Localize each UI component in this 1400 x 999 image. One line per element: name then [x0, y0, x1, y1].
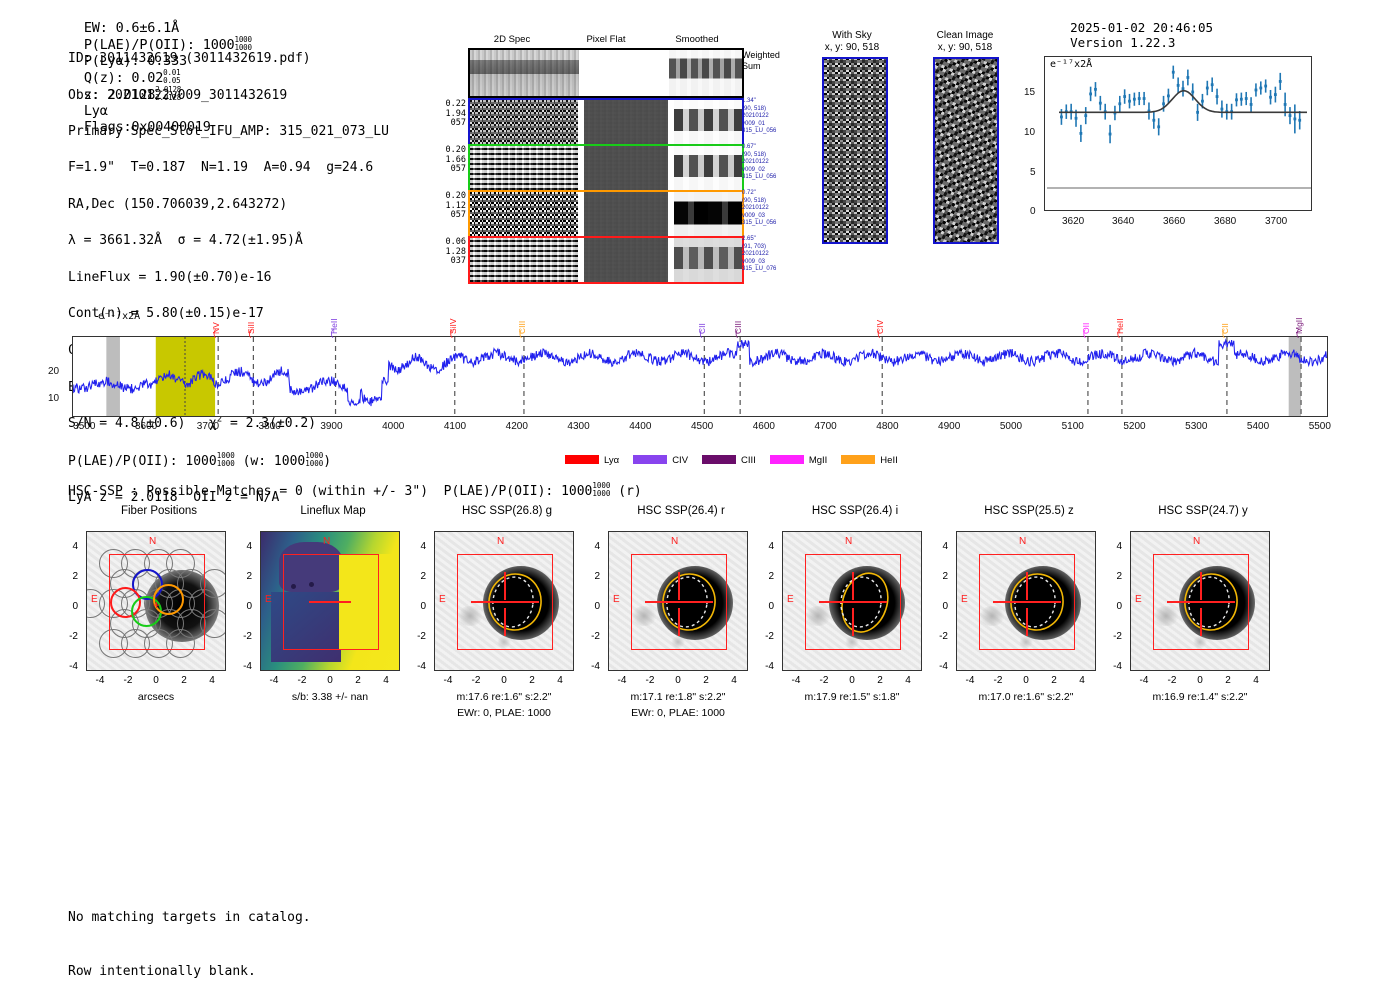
spectrum-xtick-5500: 5500: [1303, 421, 1337, 432]
header-version: Version 1.22.3: [1070, 35, 1175, 50]
cutout-1-xtick-3: 2: [348, 675, 368, 686]
cutout-2-caption-1: m:17.6 re:1.6" s:2.2": [404, 691, 604, 703]
weighted-sum-smoothed: [669, 50, 742, 96]
cutout-4-compass-e: E: [787, 594, 794, 605]
cutout-2-xtick-3: 2: [522, 675, 542, 686]
plae-lo: 1000: [217, 459, 235, 468]
weighted-sum-pixelflat: [579, 50, 669, 96]
cutout-4-ytick-4: -4: [758, 661, 774, 672]
cutout-3-compass-e: E: [613, 594, 620, 605]
fiber-row-0-values: 0.22 1.94 057: [432, 100, 466, 129]
cutout-image-5[interactable]: NE: [956, 531, 1096, 671]
fiber-row-0: [468, 98, 744, 146]
cutout-3-compass-n: N: [671, 536, 678, 547]
cutout-6-ytick-1: 2: [1106, 571, 1122, 582]
cutout-title-5: HSC SSP(25.5) z: [956, 505, 1102, 517]
cutout-3-xtick-0: -4: [612, 675, 632, 686]
cutout-1-compass-n: N: [323, 536, 330, 547]
spectrum-xtick-3600: 3600: [129, 421, 163, 432]
weighted-sum-2dspec: [470, 50, 579, 96]
linefit-ytick-10: 10: [1024, 127, 1035, 138]
cutout-0-ytick-2: 0: [62, 601, 78, 612]
linefit-xtick-3660: 3660: [1163, 216, 1185, 227]
spectrum-xtick-4300: 4300: [562, 421, 596, 432]
weighted-sum-label: Weighted Sum: [742, 50, 780, 72]
legend-swatch-Lyα: [565, 455, 599, 464]
footer-line-1: No matching targets in catalog.: [68, 909, 311, 927]
spectrum-brace-3: (: [450, 328, 453, 338]
info-line-lineflux: LineFlux = 1.90(±0.70)e-16: [68, 269, 389, 287]
spectrum-xtick-3500: 3500: [67, 421, 101, 432]
spectrum-brace-2: (: [331, 328, 334, 338]
cutout-3-xtick-3: 2: [696, 675, 716, 686]
legend-label-CIV: CIV: [672, 455, 688, 466]
spectrum-brace-4: (: [519, 328, 522, 338]
cutout-0-xtick-2: 0: [146, 675, 166, 686]
cutout-1-xtick-0: -4: [264, 675, 284, 686]
spectrum-xtick-3900: 3900: [314, 421, 348, 432]
spectrum-xtick-5100: 5100: [1056, 421, 1090, 432]
cutout-panel-0: Fiber Positions: [66, 505, 232, 517]
legend-label-HeII: HeII: [880, 455, 897, 466]
plae-post: ): [323, 454, 331, 469]
cutout-3-ytick-0: 4: [584, 541, 600, 552]
cutout-2-ytick-4: -4: [410, 661, 426, 672]
cutout-image-4[interactable]: NE: [782, 531, 922, 671]
cutout-panel-2: HSC SSP(26.8) g: [414, 505, 580, 517]
header-timestamp-version: 2025-01-02 20:46:05 Version 1.22.3: [1055, 5, 1228, 50]
spectrum-xtick-3800: 3800: [253, 421, 287, 432]
clean-image-cutout[interactable]: [933, 57, 999, 244]
cutout-5-xtick-2: 0: [1016, 675, 1036, 686]
cutout-1-ytick-2: 0: [236, 601, 252, 612]
spectrum-ytick-10: 10: [48, 393, 59, 404]
linefit-units-label: e⁻¹⁷x2Å: [1050, 59, 1092, 70]
fiber-row-2: [468, 190, 744, 238]
footer-note: No matching targets in catalog. Row inte…: [68, 873, 311, 999]
clean-image-title: Clean Image x, y: 90, 518: [910, 30, 1020, 54]
cutout-4-ytick-2: 0: [758, 601, 774, 612]
spectrum-xtick-4200: 4200: [500, 421, 534, 432]
fiber-row-1: [468, 144, 744, 192]
cutout-title-0: Fiber Positions: [86, 505, 232, 517]
cutout-0-ytick-0: 4: [62, 541, 78, 552]
cutout-panel-5: HSC SSP(25.5) z: [936, 505, 1102, 517]
plae-mid: (w: 1000: [243, 454, 306, 469]
cutout-3-caption-2: EWr: 0, PLAE: 1000: [578, 707, 778, 719]
cutout-title-2: HSC SSP(26.8) g: [434, 505, 580, 517]
cutout-3-ytick-2: 0: [584, 601, 600, 612]
cutout-1-ytick-4: -4: [236, 661, 252, 672]
cutout-panel-1: Lineflux Map: [240, 505, 406, 517]
with-sky-title: With Sky x, y: 90, 518: [802, 30, 902, 54]
cutout-6-ytick-0: 4: [1106, 541, 1122, 552]
cutout-4-caption-1: m:17.9 re:1.5" s:1.8": [752, 691, 952, 703]
cutout-4-ytick-3: -2: [758, 631, 774, 642]
linefit-xtick-3700: 3700: [1265, 216, 1287, 227]
spectrum-xtick-4100: 4100: [438, 421, 472, 432]
linefit-ytick-0: 0: [1030, 206, 1036, 217]
cutout-2-compass-n: N: [497, 536, 504, 547]
plae-w-lo: 1000: [305, 459, 323, 468]
legend-swatch-CIII: [702, 455, 736, 464]
cutout-title-1: Lineflux Map: [260, 505, 406, 517]
with-sky-cutout[interactable]: [822, 57, 888, 244]
linefit-ytick-5: 5: [1030, 167, 1036, 178]
cutout-6-xtick-2: 0: [1190, 675, 1210, 686]
legend-swatch-MgII: [770, 455, 804, 464]
hsc-ssp-summary-line: HSC-SSP : Possible Matches = 0 (within +…: [68, 482, 642, 499]
linefit-ytick-15: 15: [1024, 87, 1035, 98]
info-line-radec: RA,Dec (150.706039,2.643272): [68, 196, 389, 214]
cutout-0-compass-e: E: [91, 594, 98, 605]
cutout-2-ytick-0: 4: [410, 541, 426, 552]
spec2d-montage: 2D Spec Pixel Flat Smoothed Weighted Sum…: [432, 34, 742, 264]
spectrum-xtick-4600: 4600: [747, 421, 781, 432]
cutout-0-xtick-0: -4: [90, 675, 110, 686]
spectrum-xtick-4800: 4800: [870, 421, 904, 432]
cutout-6-xtick-1: -2: [1162, 675, 1182, 686]
legend-swatch-CIV: [633, 455, 667, 464]
cutout-1-xtick-4: 4: [376, 675, 396, 686]
cutout-2-ytick-2: 0: [410, 601, 426, 612]
cutout-panel-3: HSC SSP(26.4) r: [588, 505, 754, 517]
cutout-5-xtick-3: 2: [1044, 675, 1064, 686]
cutout-6-ytick-2: 0: [1106, 601, 1122, 612]
full-spectrum-plot[interactable]: [72, 336, 1328, 417]
cutout-2-ytick-3: -2: [410, 631, 426, 642]
hsc-post: (r): [618, 484, 641, 499]
spectrum-xtick-4400: 4400: [623, 421, 657, 432]
info-line-obs: Obs: 20210122v009_3011432619: [68, 87, 389, 105]
spectrum-xtick-4500: 4500: [685, 421, 719, 432]
spectrum-units-label: e⁻¹⁷x2Å: [98, 311, 140, 322]
linefit-xtick-3640: 3640: [1112, 216, 1134, 227]
cutout-image-0[interactable]: NE+: [86, 531, 226, 671]
legend-swatch-HeII: [841, 455, 875, 464]
cutout-5-xtick-1: -2: [988, 675, 1008, 686]
cutout-2-xtick-4: 4: [550, 675, 570, 686]
cutout-3-xtick-1: -2: [640, 675, 660, 686]
spectrum-xtick-5400: 5400: [1241, 421, 1275, 432]
legend-label-CIII: CIII: [741, 455, 756, 466]
footer-line-2: Row intentionally blank.: [68, 963, 311, 981]
cutout-4-xtick-1: -2: [814, 675, 834, 686]
cutout-panel-4: HSC SSP(26.4) i: [762, 505, 928, 517]
spectrum-xtick-4000: 4000: [376, 421, 410, 432]
cutout-image-2[interactable]: NE: [434, 531, 574, 671]
fiber-row-1-meta: 0.67" (90, 518) 20210122 v009_02 315_LU_…: [742, 144, 802, 182]
cutout-6-compass-e: E: [1135, 594, 1142, 605]
cutout-3-caption-1: m:17.1 re:1.8" s:2.2": [578, 691, 778, 703]
cutout-image-3[interactable]: NE: [608, 531, 748, 671]
info-line-plae: P(LAE)/P(OII): 100010001000 (w: 10001000…: [68, 452, 389, 471]
cutout-title-4: HSC SSP(26.4) i: [782, 505, 928, 517]
fiber-row-2-meta: 0.72" (90, 518) 20210122 v009_03 315_LU_…: [742, 190, 802, 228]
cutout-4-ytick-0: 4: [758, 541, 774, 552]
legend-label-MgII: MgII: [809, 455, 827, 466]
spectrum-brace-0: (: [213, 328, 216, 338]
cutout-image-1[interactable]: NE: [260, 531, 400, 671]
spectrum-ytick-20: 20: [48, 366, 59, 377]
spectrum-xtick-3700: 3700: [191, 421, 225, 432]
cutout-2-xtick-0: -4: [438, 675, 458, 686]
cutout-6-ytick-3: -2: [1106, 631, 1122, 642]
cutout-3-ytick-4: -4: [584, 661, 600, 672]
cutout-4-xtick-4: 4: [898, 675, 918, 686]
spectrum-brace-11: (: [1296, 328, 1299, 338]
fiber-row-1-values: 0.20 1.66 057: [432, 146, 466, 175]
cutout-5-ytick-0: 4: [932, 541, 948, 552]
fiber-row-3-values: 0.06 1.28 037: [432, 238, 466, 267]
spectrum-brace-6: (: [735, 328, 738, 338]
col-title-2dspec: 2D Spec: [468, 34, 556, 45]
fiber-row-0-meta: 1.34" (90, 518) 20210122 v009_01 315_LU_…: [742, 98, 802, 136]
cutout-5-xtick-4: 4: [1072, 675, 1092, 686]
fiber-row-2-values: 0.20 1.12 057: [432, 192, 466, 221]
col-title-pixelflat: Pixel Flat: [556, 34, 656, 45]
cutout-0-xtick-3: 2: [174, 675, 194, 686]
cutout-6-xtick-4: 4: [1246, 675, 1266, 686]
cutout-6-xtick-3: 2: [1218, 675, 1238, 686]
cutout-3-xtick-4: 4: [724, 675, 744, 686]
cutout-1-ytick-3: -2: [236, 631, 252, 642]
spectrum-brace-7: (: [877, 328, 880, 338]
cutout-1-ytick-1: 2: [236, 571, 252, 582]
cutout-panel-6: HSC SSP(24.7) y: [1110, 505, 1276, 517]
cutout-4-xtick-0: -4: [786, 675, 806, 686]
info-line-slot: Primary Spec_Slot_IFU_AMP: 315_021_073_L…: [68, 123, 389, 141]
weighted-sum-row: [468, 48, 744, 98]
cutout-0-compass-n: N: [149, 536, 156, 547]
cutout-4-xtick-2: 0: [842, 675, 862, 686]
cutout-4-xtick-3: 2: [870, 675, 890, 686]
cutout-0-caption-1: arcsecs: [56, 691, 256, 703]
cutout-5-compass-n: N: [1019, 536, 1026, 547]
spectrum-xtick-4900: 4900: [932, 421, 966, 432]
linefit-xtick-3620: 3620: [1062, 216, 1084, 227]
cutout-1-xtick-2: 0: [320, 675, 340, 686]
cutout-2-caption-2: EWr: 0, PLAE: 1000: [404, 707, 604, 719]
cutout-1-caption-1: s/b: 3.38 +/- nan: [230, 691, 430, 703]
cutout-5-ytick-3: -2: [932, 631, 948, 642]
cutout-1-xtick-1: -2: [292, 675, 312, 686]
spectrum-xtick-5000: 5000: [994, 421, 1028, 432]
hsc-lo: 1000: [592, 489, 610, 498]
emission-line-fit-plot[interactable]: [1044, 56, 1312, 211]
cutout-6-caption-1: m:16.9 re:1.4" s:2.2": [1100, 691, 1300, 703]
fiber-row-3: [468, 236, 744, 284]
header-timestamp: 2025-01-02 20:46:05: [1070, 20, 1213, 35]
spectrum-brace-8: (: [1083, 328, 1086, 338]
cutout-0-ytick-3: -2: [62, 631, 78, 642]
plae-pre: P(LAE)/P(OII): 1000: [68, 454, 217, 469]
spectrum-xtick-5300: 5300: [1179, 421, 1213, 432]
hsc-pre: HSC-SSP : Possible Matches = 0 (within +…: [68, 484, 592, 499]
cutout-5-ytick-4: -4: [932, 661, 948, 672]
cutout-1-ytick-0: 4: [236, 541, 252, 552]
info-line-id: ID: 3011432619 (3011432619.pdf): [68, 50, 389, 68]
cutout-0-ytick-1: 2: [62, 571, 78, 582]
cutout-5-caption-1: m:17.0 re:1.6" s:2.2": [926, 691, 1126, 703]
cutout-4-ytick-1: 2: [758, 571, 774, 582]
linefit-xtick-3680: 3680: [1214, 216, 1236, 227]
col-title-smoothed: Smoothed: [654, 34, 740, 45]
info-line-lambda: λ = 3661.32Å σ = 4.72(±1.95)Å: [68, 232, 389, 250]
fiber-row-3-meta: 2.65" (91, 703) 20210122 v009_03 315_LU_…: [742, 236, 802, 274]
cutout-2-ytick-1: 2: [410, 571, 426, 582]
cutout-5-xtick-0: -4: [960, 675, 980, 686]
spectrum-xtick-4700: 4700: [809, 421, 843, 432]
cutout-3-ytick-3: -2: [584, 631, 600, 642]
legend-label-Lyα: Lyα: [604, 455, 619, 466]
info-line-seeing: F=1.9" T=0.187 N=1.19 A=0.94 g=24.6: [68, 159, 389, 177]
spectrum-brace-9: (: [1117, 328, 1120, 338]
cutout-0-xtick-1: -2: [118, 675, 138, 686]
spectrum-xtick-5200: 5200: [1118, 421, 1152, 432]
spectrum-brace-10: (: [1222, 328, 1225, 338]
cutout-image-6[interactable]: NE: [1130, 531, 1270, 671]
cutout-4-compass-n: N: [845, 536, 852, 547]
cutout-3-ytick-1: 2: [584, 571, 600, 582]
spectrum-brace-1: (: [248, 328, 251, 338]
detection-info-block: ID: 3011432619 (3011432619.pdf) Obs: 202…: [68, 32, 389, 525]
cutout-2-compass-e: E: [439, 594, 446, 605]
cutout-1-compass-e: E: [265, 594, 272, 605]
cutout-6-xtick-0: -4: [1134, 675, 1154, 686]
cutout-title-6: HSC SSP(24.7) y: [1130, 505, 1276, 517]
spectrum-brace-5: (: [699, 328, 702, 338]
cutout-6-ytick-4: -4: [1106, 661, 1122, 672]
cutout-5-compass-e: E: [961, 594, 968, 605]
spectrum-legend: LyαCIVCIIIMgIIHeII: [565, 455, 912, 466]
cutout-5-ytick-1: 2: [932, 571, 948, 582]
cutout-title-3: HSC SSP(26.4) r: [608, 505, 754, 517]
cutout-6-compass-n: N: [1193, 536, 1200, 547]
cutout-0-ytick-4: -4: [62, 661, 78, 672]
cutout-3-xtick-2: 0: [668, 675, 688, 686]
cutout-0-xtick-4: 4: [202, 675, 222, 686]
cutout-2-xtick-2: 0: [494, 675, 514, 686]
cutout-5-ytick-2: 0: [932, 601, 948, 612]
cutout-2-xtick-1: -2: [466, 675, 486, 686]
